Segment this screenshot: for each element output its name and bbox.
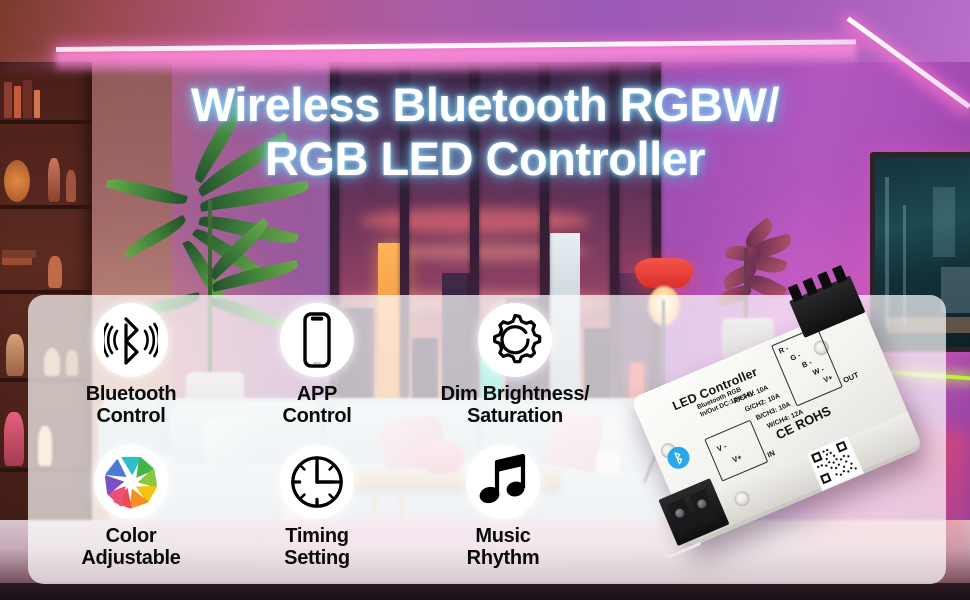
feature-label-line2: Control	[283, 405, 352, 427]
controller-body: LED Controller Bluetooth RGB In/Out DC:1…	[631, 301, 920, 537]
gear-icon-circle	[478, 303, 552, 377]
bluetooth-icon	[104, 313, 158, 367]
clock-icon-circle	[280, 445, 354, 519]
feature-bluetooth-control: Bluetooth Control	[38, 303, 224, 427]
input-label: IN	[766, 448, 776, 459]
led-controller-product: LED Controller Bluetooth RGB In/Out DC:1…	[628, 318, 968, 586]
feature-label-line2: Setting	[284, 547, 350, 569]
smartphone-icon	[292, 312, 342, 368]
music-note-icon	[477, 454, 529, 510]
feature-label-line1: Color	[106, 525, 157, 547]
feature-music-rhythm: Music Rhythm	[410, 445, 596, 569]
feature-timing-setting: Timing Setting	[224, 445, 410, 569]
bluetooth-icon-circle	[94, 303, 168, 377]
feature-label-line1: Timing	[285, 525, 348, 547]
feature-label-line1: Dim Brightness/	[441, 383, 590, 405]
feature-app-control: APP Control	[224, 303, 410, 427]
color-wheel-icon-circle	[94, 445, 168, 519]
clock-icon	[288, 453, 346, 511]
feature-label-line1: Bluetooth	[86, 383, 177, 405]
feature-label-line2: Saturation	[467, 405, 563, 427]
feature-grid: Bluetooth Control APP Control	[38, 303, 598, 577]
gear-icon	[487, 312, 543, 368]
feature-color-adjustable: Color Adjustable	[38, 445, 224, 569]
music-note-icon-circle	[466, 445, 540, 519]
feature-label-line2: Control	[97, 405, 166, 427]
feature-label-line2: Adjustable	[81, 547, 180, 569]
feature-label-line1: APP	[297, 383, 337, 405]
input-terminal-box	[704, 420, 768, 482]
feature-label-line1: Music	[475, 525, 530, 547]
bluetooth-glyph	[670, 449, 687, 467]
smartphone-icon-circle	[280, 303, 354, 377]
feature-dim-brightness: Dim Brightness/ Saturation	[410, 303, 620, 427]
output-label: OUT	[842, 370, 860, 385]
product-marketing-image: Wireless Bluetooth RGBW/ RGB LED Control…	[0, 0, 970, 600]
color-wheel-icon	[100, 451, 162, 513]
feature-label-line2: Rhythm	[467, 547, 540, 569]
